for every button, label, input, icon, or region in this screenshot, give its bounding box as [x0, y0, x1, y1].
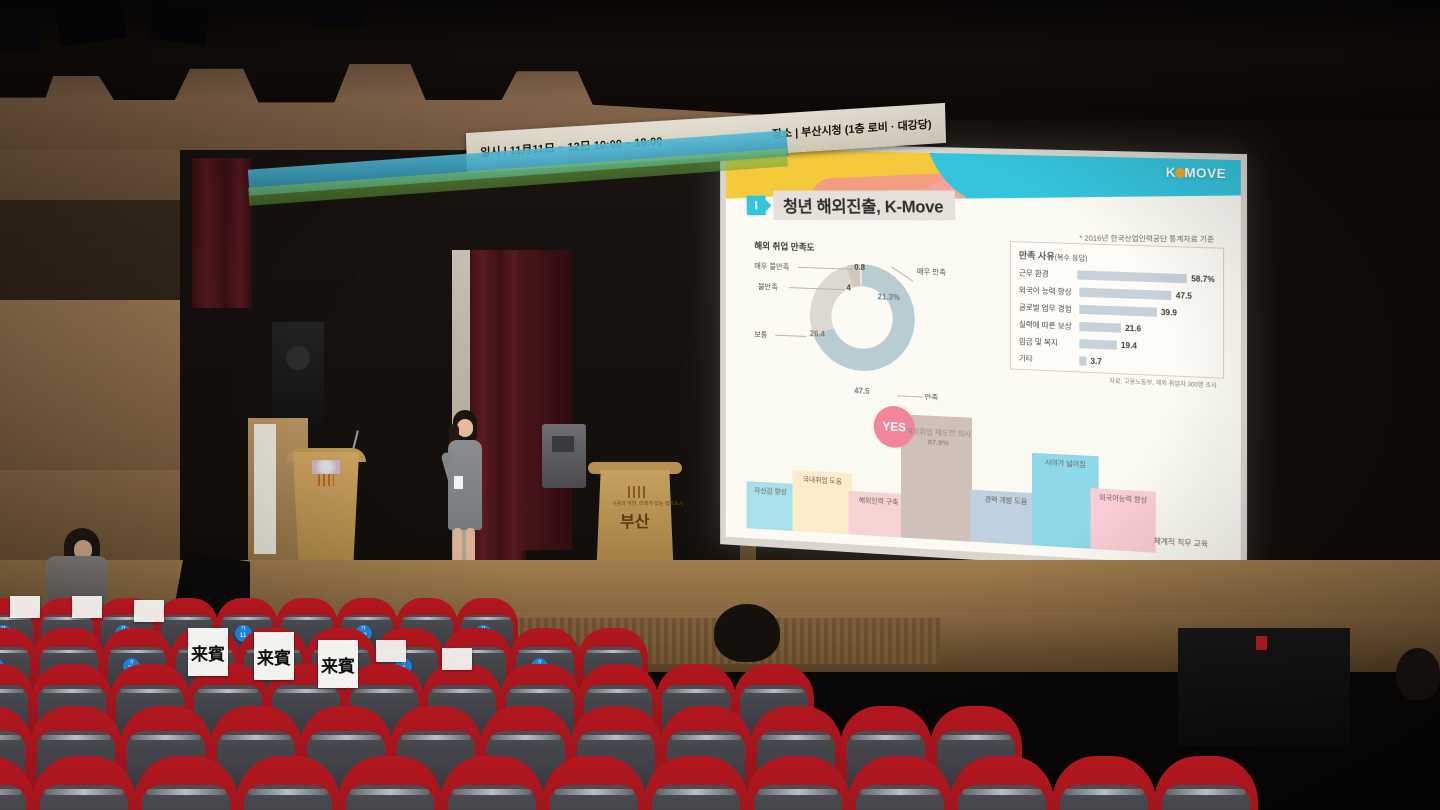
seat-highlight: [510, 689, 571, 693]
slide-title: 청년 해외진출, K-Move: [773, 190, 955, 220]
seat-highlight: [223, 617, 270, 620]
seat-highlight: [744, 689, 805, 693]
seat-highlight: [163, 617, 210, 620]
reserved-guest-sign: 来賓: [254, 632, 294, 680]
stage-light-3: [0, 18, 40, 52]
speaker-cone: [286, 346, 310, 370]
donut-value-very-dissatisfied: 0.8: [854, 263, 865, 272]
seat-highlight: [110, 650, 163, 654]
seat-highlight: [248, 789, 327, 795]
speaker-led: [1256, 636, 1267, 650]
seat-highlight: [350, 789, 429, 795]
reasons-bar-label: 기타: [1019, 353, 1079, 367]
reasons-heading: 만족 사유(복수 응답): [1019, 248, 1215, 268]
presenter-face: [457, 419, 473, 437]
auditorium-seat[interactable]: [950, 756, 1054, 810]
retry-intent-label: 해외취업 재도전 의사 87.9%: [899, 426, 978, 449]
auditorium-seat[interactable]: [134, 756, 238, 810]
seat-paper-slip: [10, 596, 40, 618]
lectern-tagline: 사람과 자연, 미래가 있는 행복도시: [612, 500, 683, 507]
auditorium-seat[interactable]: [848, 756, 952, 810]
equipment-panel: [552, 436, 574, 452]
seat-highlight: [221, 735, 291, 740]
reasons-bar-value: 47.5: [1176, 291, 1192, 301]
seat-highlight: [403, 617, 450, 620]
seat-highlight: [463, 617, 510, 620]
podium-cabinet-panel: [254, 424, 276, 554]
podium-emblem: [312, 460, 340, 474]
seat-highlight: [0, 735, 21, 740]
reasons-bar-value: 21.6: [1125, 324, 1141, 334]
lectern-stripe: [628, 486, 646, 498]
reserved-guest-sign: 来賓: [188, 628, 228, 676]
seat-highlight: [491, 735, 561, 740]
reasons-bar-label: 글로벌 업무 경험: [1019, 302, 1079, 315]
seat-highlight: [131, 735, 201, 740]
lectern-logo: 부산: [620, 508, 649, 532]
auditorium-seat[interactable]: [236, 756, 340, 810]
donut-label-neutral: 보통: [754, 329, 767, 340]
seat-highlight: [518, 650, 571, 654]
reasons-bar-label: 근무 환경: [1019, 267, 1077, 280]
seat-paper-slip: [72, 596, 102, 618]
seat-highlight: [860, 789, 939, 795]
donut-label-dissatisfied: 불만족: [758, 281, 778, 293]
satisfaction-reasons-panel: 만족 사유(복수 응답) 근무 환경58.7%외국어 능력 향상47.5글로벌 …: [1010, 241, 1224, 379]
reasons-bar-value: 39.9: [1161, 308, 1177, 318]
donut-value-very-satisfied: 21.3%: [878, 292, 900, 302]
presenter-badge: [454, 476, 463, 489]
donut-label-very-dissatisfied: 매우 불만족: [754, 260, 789, 272]
reasons-bar: [1079, 322, 1121, 333]
block-bar-5: 시야가 넓어짐: [1032, 453, 1099, 549]
seat-highlight: [851, 735, 921, 740]
seat-paper-slip: [442, 648, 472, 670]
reasons-bar-label: 외국어 능력 향상: [1019, 284, 1079, 297]
block-bar-6: 외국어능력 향상: [1090, 488, 1155, 553]
reasons-bar: [1079, 339, 1117, 350]
seat-highlight: [1064, 789, 1143, 795]
seat-highlight: [656, 789, 735, 795]
reasons-bar: [1079, 288, 1171, 300]
seat-highlight: [0, 650, 28, 654]
stage-curtain-left: [192, 158, 252, 308]
seat-highlight: [432, 689, 493, 693]
seat-highlight: [42, 650, 95, 654]
seat-highlight: [283, 617, 330, 620]
block-bar-1: 자신감 향상: [747, 481, 795, 531]
systematic-training-label: 체계적 직무 교육: [1154, 535, 1208, 549]
auditorium-seat[interactable]: [644, 756, 748, 810]
auditorium-seat[interactable]: [1052, 756, 1156, 810]
seat-highlight: [401, 735, 471, 740]
block-bar-6-label: 외국어능력 향상: [1099, 495, 1147, 505]
seat-highlight: [761, 735, 831, 740]
auditorium-seat[interactable]: [338, 756, 442, 810]
retry-intent-value: 87.9%: [928, 437, 949, 447]
seat-highlight: [581, 735, 651, 740]
seat-highlight: [586, 650, 639, 654]
block-bar-2-label: 국내취업 도움: [803, 476, 842, 486]
reasons-bar-value: 19.4: [1121, 341, 1137, 351]
donut-label-very-satisfied: 매우 만족: [917, 266, 946, 278]
slide-title-row: I 청년 해외진출, K-Move: [746, 190, 955, 220]
floor-speaker-right: [1178, 628, 1350, 746]
projected-slide: KMOVE I 청년 해외진출, K-Move * 2016년 한국산업인력공단…: [726, 148, 1241, 568]
block-bar-5-label: 시야가 넓어짐: [1045, 460, 1086, 470]
reserved-guest-sign: 来賓: [318, 640, 358, 688]
retry-intent-chart: 자신감 향상 국내취업 도움 해외인력 구축 해외취업 재도전 의사 87.9%…: [741, 391, 1224, 557]
auditorium-seat[interactable]: [32, 756, 136, 810]
seat-highlight: [0, 789, 22, 795]
seat-highlight: [588, 689, 649, 693]
stage-light-2: [148, 1, 210, 45]
auditorium-seat[interactable]: [542, 756, 646, 810]
reasons-heading-main: 만족 사유: [1019, 250, 1055, 261]
seat-paper-slip: [376, 640, 406, 662]
reasons-bar-label: 실력에 따른 보상: [1019, 319, 1079, 332]
seat-highlight: [554, 789, 633, 795]
seat-highlight: [42, 689, 103, 693]
projection-screen: KMOVE I 청년 해외진출, K-Move * 2016년 한국산업인력공단…: [720, 142, 1247, 576]
reasons-bar-value: 58.7%: [1191, 274, 1215, 284]
banner-place: 장소 | 부산시청 (1층 로비 · 대강당): [772, 116, 932, 142]
seat-highlight: [44, 789, 123, 795]
seat-highlight: [941, 735, 1011, 740]
kmove-logo-dot: [1175, 168, 1185, 178]
reasons-bar: [1077, 270, 1187, 283]
audience-member-left: [42, 528, 122, 604]
seat-highlight: [1166, 789, 1245, 795]
block-bar-2: 국내취업 도움: [793, 470, 853, 535]
seat-paper-slip: [134, 600, 164, 622]
block-bar-3: 해외인력 구축: [848, 491, 908, 538]
reasons-bar-value: 3.7: [1091, 357, 1102, 367]
reasons-bar: [1079, 305, 1156, 317]
auditorium-seat[interactable]: [746, 756, 850, 810]
seat-highlight: [962, 789, 1041, 795]
block-bar-4-label: 경력 개발 도움: [985, 496, 1027, 506]
seat-highlight: [671, 735, 741, 740]
block-bar-3-label: 해외인력 구축: [859, 497, 899, 507]
seat-highlight: [198, 689, 259, 693]
seat-highlight: [758, 789, 837, 795]
stage-curtain-right: [520, 250, 572, 550]
auditorium-seat[interactable]: [440, 756, 544, 810]
auditorium-photo: KMOVE I 청년 해외진출, K-Move * 2016년 한국산업인력공단…: [0, 0, 1440, 810]
reasons-heading-sub: (복수 응답): [1055, 255, 1088, 263]
audience-head-right: [1396, 648, 1440, 700]
donut-leader-5: [897, 395, 923, 397]
seat-highlight: [120, 689, 181, 693]
reasons-bar-list: 근무 환경58.7%외국어 능력 향상47.5글로벌 업무 경험39.9실력에 …: [1019, 265, 1215, 374]
stage-light-4: [310, 0, 364, 26]
reasons-bar: [1079, 356, 1086, 365]
seat-highlight: [276, 689, 337, 693]
donut-heading: 해외 취업 만족도: [754, 239, 968, 259]
seat-highlight: [343, 617, 390, 620]
reasons-source: 자료: 고용노동부, 해외 취업자 300명 조사: [1109, 376, 1217, 390]
auditorium-seat[interactable]: [0, 756, 34, 810]
stage-speaker-left: [272, 322, 324, 432]
seat-highlight: [452, 789, 531, 795]
audience-head-center: [714, 604, 780, 662]
seat-highlight: [0, 689, 24, 693]
seat-highlight: [146, 789, 225, 795]
seat-highlight: [41, 735, 111, 740]
donut-value-satisfied: 47.5: [854, 386, 869, 396]
reasons-bar-label: 임금 및 복지: [1019, 336, 1079, 350]
block-bar-1-label: 자신감 향상: [754, 488, 787, 497]
kmove-logo: KMOVE: [1166, 164, 1226, 181]
seat-highlight: [354, 689, 415, 693]
stage-equipment-box: [542, 424, 586, 488]
auditorium-seat[interactable]: [1154, 756, 1258, 810]
seat-highlight: [666, 689, 727, 693]
donut-value-neutral: 26.4: [810, 329, 825, 338]
donut-value-dissatisfied: 4: [846, 283, 850, 292]
donut-ring: [810, 262, 915, 373]
section-number-badge: I: [746, 196, 766, 216]
donut-leader-4: [775, 335, 806, 337]
seat-highlight: [311, 735, 381, 740]
podium-stripe: [318, 474, 334, 486]
